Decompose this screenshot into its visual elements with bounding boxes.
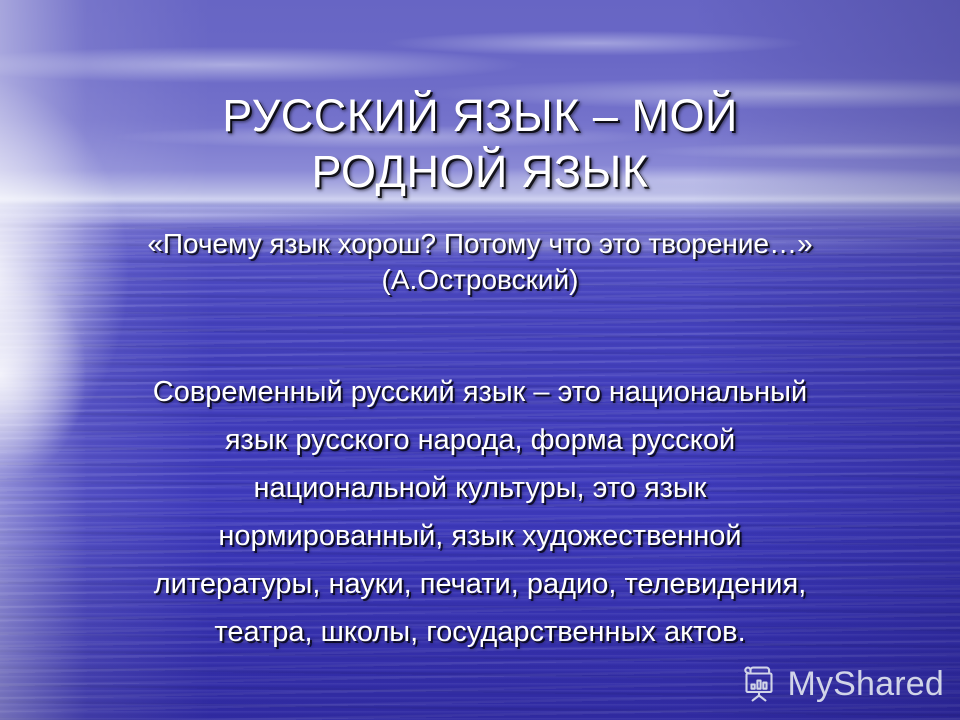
- slide-title-line-1: РУССКИЙ ЯЗЫК – МОЙ: [0, 88, 960, 144]
- epigraph-quote: «Почему язык хорош? Потому что это творе…: [0, 226, 960, 262]
- body-line-4: нормированный, язык художественной: [22, 512, 938, 560]
- body-line-3: национальной культуры, это язык: [22, 464, 938, 512]
- myshared-watermark[interactable]: MyShared: [740, 666, 944, 702]
- presentation-slide: РУССКИЙ ЯЗЫК – МОЙ РОДНОЙ ЯЗЫК «Почему я…: [0, 0, 960, 720]
- body-line-2: язык русского народа, форма русской: [22, 416, 938, 464]
- presentation-chart-easel-icon: [740, 666, 778, 702]
- body-line-5: литературы, науки, печати, радио, телеви…: [22, 560, 938, 608]
- slide-body-text: Современный русский язык – это националь…: [22, 368, 938, 656]
- body-line-1: Современный русский язык – это националь…: [22, 368, 938, 416]
- slide-content: РУССКИЙ ЯЗЫК – МОЙ РОДНОЙ ЯЗЫК «Почему я…: [0, 0, 960, 720]
- slide-title-line-2: РОДНОЙ ЯЗЫК: [0, 144, 960, 200]
- slide-epigraph: «Почему язык хорош? Потому что это творе…: [0, 226, 960, 298]
- slide-title: РУССКИЙ ЯЗЫК – МОЙ РОДНОЙ ЯЗЫК: [0, 88, 960, 200]
- epigraph-attribution: (А.Островский): [0, 262, 960, 298]
- myshared-watermark-label: MyShared: [787, 667, 944, 701]
- body-line-6: театра, школы, государственных актов.: [22, 608, 938, 656]
